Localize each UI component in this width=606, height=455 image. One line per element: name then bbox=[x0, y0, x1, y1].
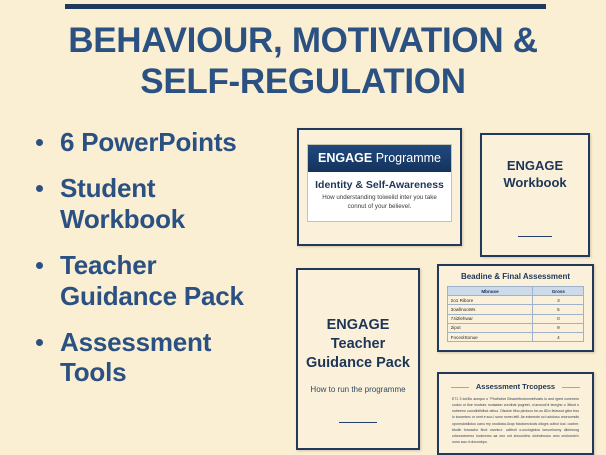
assessment-progress-body: E71 3 loe3to aceqoo o "Phothcfoe Bbucerl… bbox=[439, 393, 592, 445]
card-teacher-guidance-pack: ENGAGE Teacher Guidance Pack How to run … bbox=[296, 268, 420, 450]
page-title-line-2: SELF-REGULATION bbox=[0, 61, 606, 102]
list-item-label: 6 PowerPoints bbox=[60, 127, 237, 157]
cell-measure: FoceolSonue bbox=[447, 332, 533, 341]
page-title: BEHAVIOUR, MOTIVATION & SELF-REGULATION bbox=[0, 20, 606, 103]
card-assessment-progress: Assessment Trcopess E71 3 loe3to aceqoo … bbox=[437, 372, 594, 455]
page-title-line-1: BEHAVIOUR, MOTIVATION & bbox=[68, 21, 537, 60]
cell-measure: 3owllnooWs bbox=[447, 305, 533, 314]
bullet-dot-icon bbox=[36, 185, 43, 192]
list-item: 6 PowerPoints bbox=[32, 127, 280, 157]
slide-preview: ENGAGE Programme Identity & Self-Awarene… bbox=[307, 144, 452, 222]
card-assessment-table: Beadine & Final Assessment Mbnuse Gross … bbox=[437, 264, 594, 352]
cell-score: 3 bbox=[533, 296, 584, 305]
table-row: 2ipot 9 bbox=[447, 323, 584, 332]
assessment-table: Mbnuse Gross 2o1 Ribore 3 3owllnooWs 5 7… bbox=[447, 286, 585, 342]
cell-score: 0 bbox=[533, 314, 584, 323]
table-row: FoceolSonue 4 bbox=[447, 332, 584, 341]
list-item: Teacher Guidance Pack bbox=[32, 250, 280, 311]
column-header-score: Gross bbox=[533, 287, 584, 296]
feature-list: 6 PowerPoints Student Workbook Teacher G… bbox=[32, 127, 280, 404]
bullet-dot-icon bbox=[36, 139, 43, 146]
slide-header: ENGAGE Programme bbox=[308, 145, 451, 172]
table-row: 74i2lehwar 0 bbox=[447, 314, 584, 323]
slide-header-brand: ENGAGE bbox=[318, 151, 372, 165]
table-row: 2o1 Ribore 3 bbox=[447, 296, 584, 305]
workbook-title: ENGAGE Workbook bbox=[482, 158, 588, 192]
cell-measure: 74i2lehwar bbox=[447, 314, 533, 323]
teacher-pack-title: ENGAGE Teacher Guidance Pack bbox=[298, 316, 418, 373]
list-item-label: Assessment Tools bbox=[60, 327, 211, 387]
cell-measure: 2o1 Ribore bbox=[447, 296, 533, 305]
bullet-dot-icon bbox=[36, 262, 43, 269]
cell-score: 9 bbox=[533, 323, 584, 332]
list-item: Student Workbook bbox=[32, 173, 280, 234]
decorative-rule bbox=[518, 236, 552, 238]
card-workbook: ENGAGE Workbook bbox=[480, 133, 590, 257]
top-divider bbox=[65, 4, 546, 9]
table-row: 3owllnooWs 5 bbox=[447, 305, 584, 314]
assessment-progress-title: Assessment Trcopess bbox=[439, 374, 592, 393]
slide-header-word: Programme bbox=[376, 151, 441, 165]
teacher-pack-subtitle: How to run the programme bbox=[298, 385, 418, 394]
cell-measure: 2ipot bbox=[447, 323, 533, 332]
list-item-label: Teacher Guidance Pack bbox=[60, 250, 244, 310]
cell-score: 4 bbox=[533, 332, 584, 341]
slide-subtitle: Identity & Self-Awareness bbox=[308, 172, 451, 194]
list-item-label: Student Workbook bbox=[60, 173, 185, 233]
card-programme-slide: ENGAGE Programme Identity & Self-Awarene… bbox=[297, 128, 462, 246]
table-header-row: Mbnuse Gross bbox=[447, 287, 584, 296]
assessment-table-title: Beadine & Final Assessment bbox=[439, 266, 592, 286]
cell-score: 5 bbox=[533, 305, 584, 314]
list-item: Assessment Tools bbox=[32, 327, 280, 388]
bullet-dot-icon bbox=[36, 339, 43, 346]
column-header-measure: Mbnuse bbox=[447, 287, 533, 296]
slide-body-text: How understanding toiweild inter you tak… bbox=[308, 194, 451, 221]
decorative-rule bbox=[339, 422, 377, 424]
